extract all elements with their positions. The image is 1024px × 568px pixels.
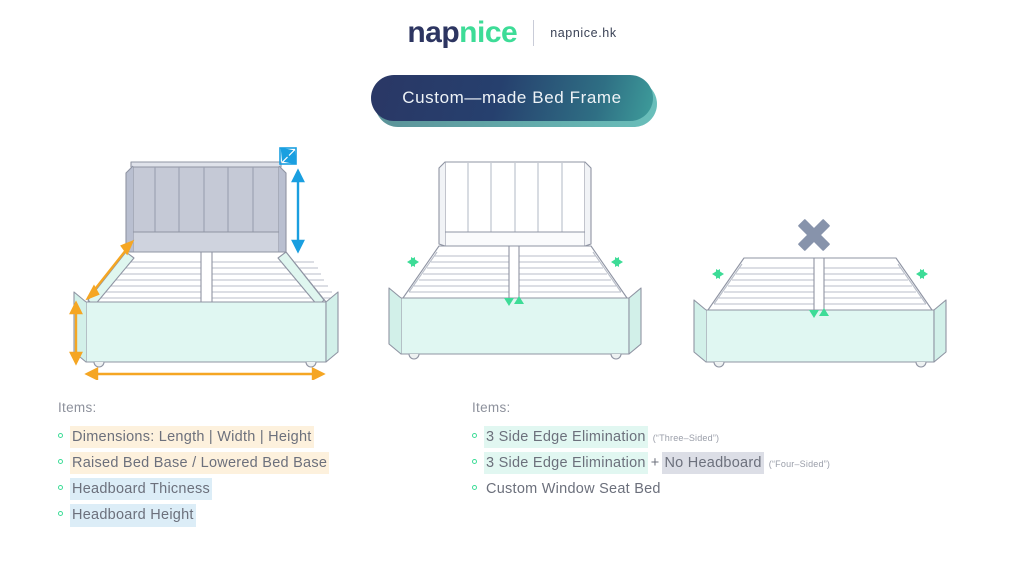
title-banner: Custom—made Bed Frame — [371, 75, 653, 123]
bullet-icon — [58, 485, 63, 490]
items-list-right: Items: 3 Side Edge Elimination (“Three–S… — [472, 400, 830, 506]
list-item-label: 3 Side Edge Elimination — [486, 454, 646, 472]
banner-pill: Custom—made Bed Frame — [371, 75, 653, 121]
logo-divider — [533, 20, 534, 46]
page-title: Custom—made Bed Frame — [402, 88, 622, 108]
list-item-label: Headboard Height — [72, 506, 194, 524]
list-item-note: (“Four–Sided”) — [769, 459, 830, 469]
bed-base — [389, 288, 641, 354]
list-item[interactable]: 3 Side Edge Elimination + No Headboard (… — [472, 454, 830, 472]
list-item-label-secondary: No Headboard — [664, 454, 761, 472]
list-item[interactable]: Headboard Thicness — [58, 480, 327, 498]
bed-illustrations — [0, 140, 1024, 380]
list-item[interactable]: Raised Bed Base / Lowered Bed Base — [58, 454, 327, 472]
x-mark — [789, 210, 840, 261]
bullet-icon — [58, 433, 63, 438]
list-item-label: 3 Side Edge Elimination — [486, 428, 646, 446]
bed-with-panel-headboard — [58, 140, 358, 380]
bed-outline-headboard — [385, 140, 645, 380]
bullet-icon — [58, 511, 63, 516]
list-item-plus: + — [651, 454, 660, 472]
list-item-label: Headboard Thicness — [72, 480, 210, 498]
poster-canvas: napnice napnice.hk Custom—made Bed Frame — [0, 0, 1024, 568]
brand-header: napnice napnice.hk — [0, 18, 1024, 48]
bed-base — [74, 292, 338, 362]
items-label-right: Items: — [472, 400, 830, 415]
list-item-note: (“Three–Sided”) — [653, 433, 720, 443]
bullet-icon — [58, 459, 63, 464]
items-list-left: Items: Dimensions: Length | Width | Heig… — [58, 400, 327, 533]
logo-nice-text: nice — [459, 16, 517, 49]
headboard-outline — [439, 162, 591, 246]
logo: napnice — [407, 18, 517, 48]
list-item[interactable]: Dimensions: Length | Width | Height — [58, 428, 327, 446]
headboard-panelled — [126, 162, 286, 254]
slat-deck — [708, 258, 932, 310]
bullet-icon — [472, 459, 477, 464]
bed-no-headboard — [690, 140, 950, 380]
items-label-left: Items: — [58, 400, 327, 415]
list-item[interactable]: Headboard Height — [58, 506, 327, 524]
list-item-label: Custom Window Seat Bed — [486, 480, 661, 498]
logo-nap-text: nap — [407, 16, 459, 49]
bullet-icon — [472, 485, 477, 490]
slat-deck — [403, 246, 627, 298]
brand-url: napnice.hk — [550, 26, 616, 40]
bullet-icon — [472, 433, 477, 438]
list-item[interactable]: Custom Window Seat Bed — [472, 480, 830, 498]
list-item-label: Dimensions: Length | Width | Height — [72, 428, 312, 446]
list-item[interactable]: 3 Side Edge Elimination (“Three–Sided”) — [472, 428, 830, 446]
list-item-label: Raised Bed Base / Lowered Bed Base — [72, 454, 327, 472]
